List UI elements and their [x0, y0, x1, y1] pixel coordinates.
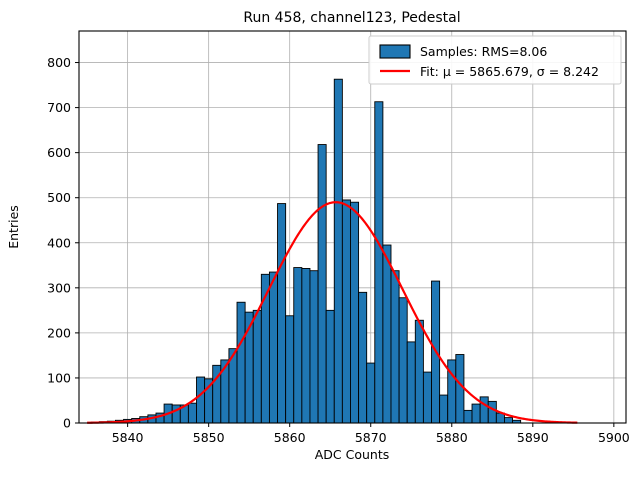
histogram-bar	[350, 202, 358, 423]
x-axis-label: ADC Counts	[315, 447, 390, 462]
chart-svg[interactable]: Run 458, channel123, Pedestal 5840585058…	[0, 0, 640, 480]
legend-swatch-samples	[380, 45, 410, 58]
histogram-bar	[302, 268, 310, 423]
y-axis-label: Entries	[6, 205, 21, 249]
x-axis-ticks: 5840585058605870588058905900	[112, 423, 630, 445]
histogram-bar	[342, 200, 350, 423]
histogram-bar	[326, 310, 334, 423]
x-tick-label: 5870	[355, 430, 387, 445]
histogram-bar	[504, 418, 512, 423]
y-tick-label: 300	[47, 280, 71, 295]
y-tick-label: 100	[47, 370, 71, 385]
x-tick-label: 5900	[598, 430, 630, 445]
histogram-bar	[480, 397, 488, 423]
y-tick-label: 600	[47, 145, 71, 160]
histogram-bar	[464, 410, 472, 423]
legend-label-samples: Samples: RMS=8.06	[420, 44, 547, 59]
histogram-bar	[383, 245, 391, 423]
histogram-bar	[286, 316, 294, 423]
histogram-bar	[310, 271, 318, 423]
legend[interactable]: Samples: RMS=8.06 Fit: μ = 5865.679, σ =…	[369, 36, 621, 84]
histogram-bar	[197, 377, 205, 423]
histogram-bar	[407, 342, 415, 423]
histogram-bar	[456, 355, 464, 423]
histogram-bar	[399, 298, 407, 423]
y-tick-label: 500	[47, 190, 71, 205]
x-tick-label: 5840	[112, 430, 144, 445]
y-tick-label: 800	[47, 55, 71, 70]
histogram-bar	[278, 204, 286, 423]
y-axis-ticks: 0100200300400500600700800	[47, 55, 79, 430]
histogram-bar	[188, 403, 196, 423]
x-tick-label: 5890	[517, 430, 549, 445]
histogram-bar	[269, 272, 277, 423]
histogram-bar	[367, 363, 375, 423]
y-tick-label: 200	[47, 325, 71, 340]
histogram-bar	[391, 271, 399, 423]
histogram-bar	[359, 292, 367, 423]
y-tick-label: 0	[63, 416, 71, 431]
chart-title: Run 458, channel123, Pedestal	[243, 10, 460, 26]
histogram-bar	[423, 372, 431, 423]
legend-label-fit: Fit: μ = 5865.679, σ = 8.242	[420, 64, 599, 79]
y-tick-label: 400	[47, 235, 71, 250]
histogram-bar	[440, 395, 448, 423]
histogram-bar	[294, 268, 302, 423]
x-tick-label: 5880	[436, 430, 468, 445]
histogram-bar	[415, 320, 423, 423]
histogram-bar	[488, 401, 496, 423]
histogram-bar	[318, 145, 326, 423]
x-tick-label: 5860	[274, 430, 306, 445]
y-tick-label: 700	[47, 100, 71, 115]
histogram-bar	[253, 310, 261, 423]
x-tick-label: 5850	[193, 430, 225, 445]
figure-canvas: Run 458, channel123, Pedestal 5840585058…	[0, 0, 640, 480]
histogram-bar	[472, 404, 480, 423]
histogram-bar	[375, 102, 383, 423]
histogram-bar	[334, 79, 342, 423]
histogram-bar	[237, 302, 245, 423]
